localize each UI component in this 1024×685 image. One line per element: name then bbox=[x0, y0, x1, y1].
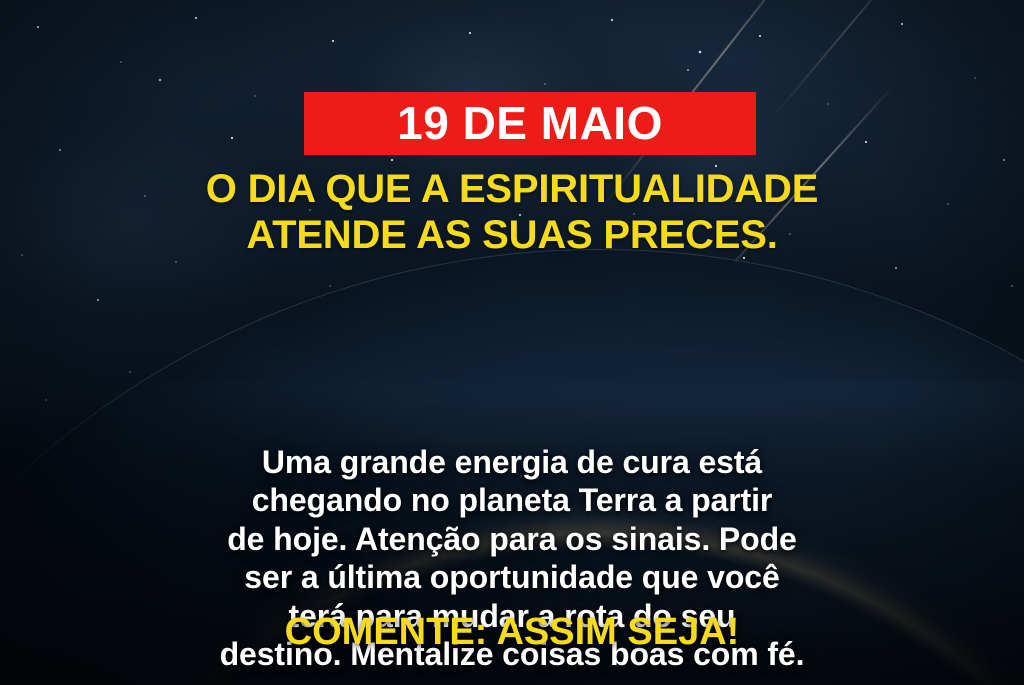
body-line-3: de hoje. Atenção para os sinais. Pode bbox=[62, 520, 962, 558]
headline: O DIA QUE A ESPIRITUALIDADE ATENDE AS SU… bbox=[62, 166, 962, 259]
headline-line-2: ATENDE AS SUAS PRECES. bbox=[62, 212, 962, 258]
date-banner-label: 19 DE MAIO bbox=[397, 100, 663, 146]
body-line-2: chegando no planeta Terra a partir bbox=[62, 481, 962, 519]
poster-content: 19 DE MAIO O DIA QUE A ESPIRITUALIDADE A… bbox=[0, 0, 1024, 685]
inspirational-poster: 19 DE MAIO O DIA QUE A ESPIRITUALIDADE A… bbox=[0, 0, 1024, 685]
date-banner: 19 DE MAIO bbox=[304, 92, 756, 155]
body-line-4: ser a última oportunidade que você bbox=[62, 558, 962, 596]
body-line-1: Uma grande energia de cura está bbox=[62, 443, 962, 481]
call-to-action-text: COMENTE: ASSIM SEJA! bbox=[62, 612, 962, 654]
headline-line-1: O DIA QUE A ESPIRITUALIDADE bbox=[62, 166, 962, 212]
